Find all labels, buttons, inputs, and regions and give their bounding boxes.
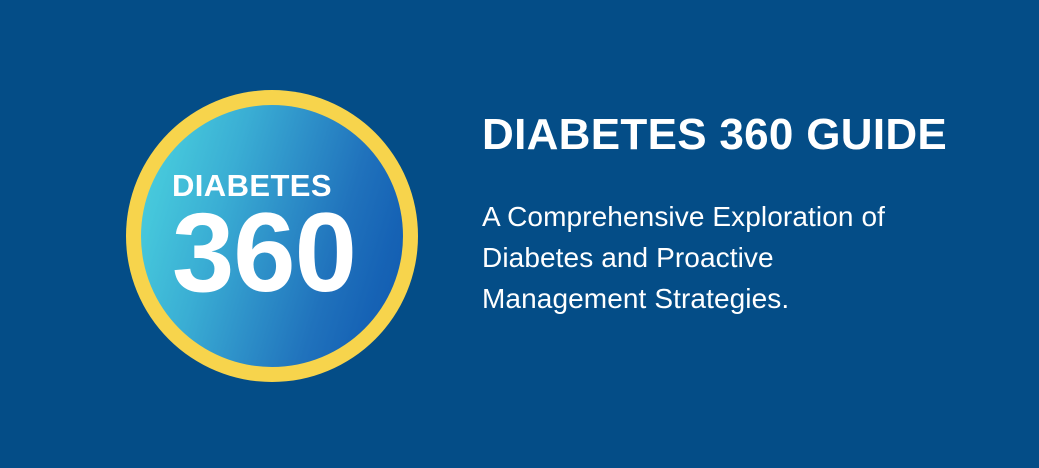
subtitle-line-2: Diabetes and Proactive bbox=[482, 237, 1002, 278]
subtitle-line-1: A Comprehensive Exploration of bbox=[482, 196, 1002, 237]
diabetes-360-banner: DIABETES 360 DIABETES 360 GUIDE A Compre… bbox=[0, 0, 1039, 468]
badge-gradient-disc: DIABETES 360 bbox=[141, 105, 403, 367]
badge-label-360: 360 bbox=[172, 205, 356, 301]
diabetes-360-logo-badge: DIABETES 360 bbox=[126, 90, 418, 382]
banner-text-block: DIABETES 360 GUIDE A Comprehensive Explo… bbox=[482, 112, 1002, 319]
page-title: DIABETES 360 GUIDE bbox=[482, 112, 1002, 158]
page-subtitle: A Comprehensive Exploration of Diabetes … bbox=[482, 196, 1002, 319]
subtitle-line-3: Management Strategies. bbox=[482, 278, 1002, 319]
badge-text-group: DIABETES 360 bbox=[141, 105, 403, 367]
